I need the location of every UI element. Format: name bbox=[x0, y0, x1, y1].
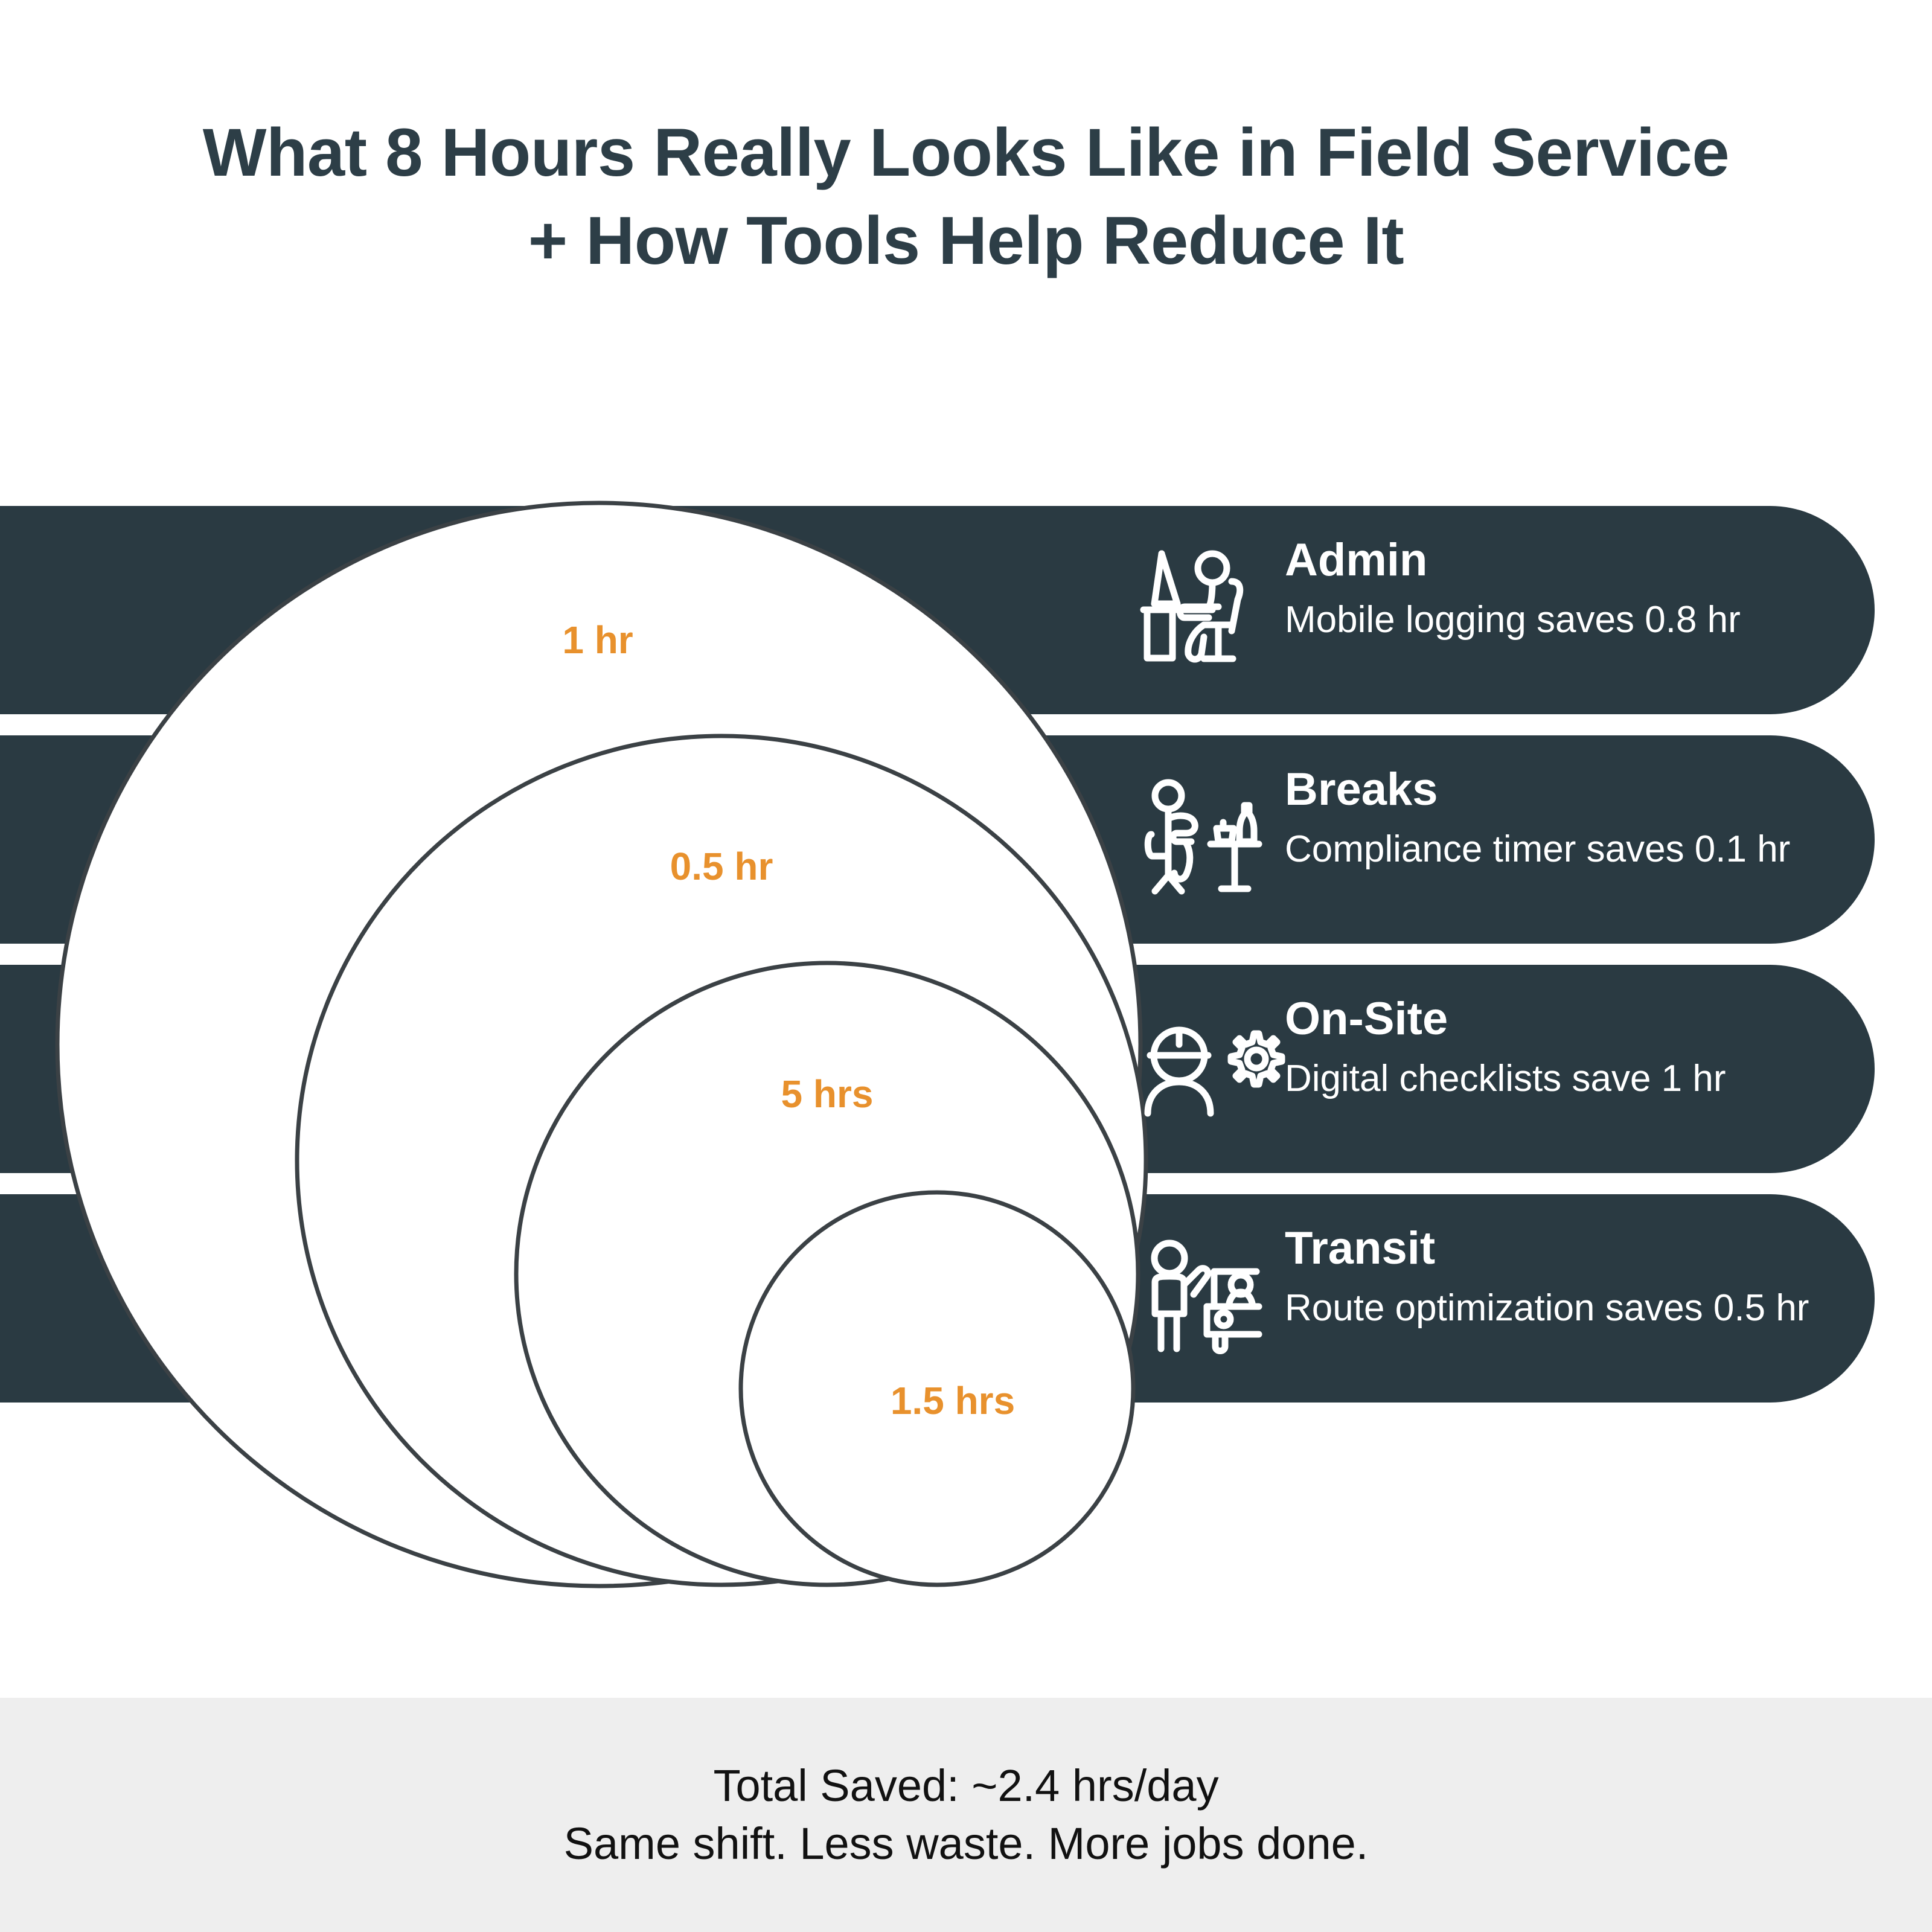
row-label-breaks: Breaks bbox=[1285, 767, 1790, 813]
footer-total-saved: Total Saved: ~2.4 hrs/day bbox=[713, 1757, 1218, 1815]
footer-summary: Total Saved: ~2.4 hrs/day Same shift. Le… bbox=[0, 1698, 1932, 1932]
footer-tagline: Same shift. Less waste. More jobs done. bbox=[564, 1815, 1369, 1873]
row-text-onsite: On-Site Digital checklists save 1 hr bbox=[1285, 996, 1726, 1098]
row-label-admin: Admin bbox=[1285, 537, 1741, 583]
row-sub-breaks: Compliance timer saves 0.1 hr bbox=[1285, 831, 1790, 868]
circle-value-transit: 1.5 hrs bbox=[891, 1378, 1015, 1423]
circle-value-admin: 1 hr bbox=[562, 618, 633, 662]
row-label-onsite: On-Site bbox=[1285, 996, 1726, 1042]
chart-stage: Admin Mobile logging saves 0.8 hr Breaks… bbox=[0, 0, 1932, 1698]
row-sub-onsite: Digital checklists save 1 hr bbox=[1285, 1060, 1726, 1098]
row-sub-admin: Mobile logging saves 0.8 hr bbox=[1285, 601, 1741, 639]
circle-value-onsite: 5 hrs bbox=[781, 1072, 874, 1116]
row-label-transit: Transit bbox=[1285, 1226, 1809, 1271]
row-text-admin: Admin Mobile logging saves 0.8 hr bbox=[1285, 537, 1741, 639]
row-sub-transit: Route optimization saves 0.5 hr bbox=[1285, 1290, 1809, 1327]
circle-group bbox=[57, 503, 1146, 1586]
circle-value-breaks: 0.5 hr bbox=[670, 844, 773, 889]
infographic-canvas: What 8 Hours Really Looks Like in Field … bbox=[0, 0, 1932, 1932]
row-text-transit: Transit Route optimization saves 0.5 hr bbox=[1285, 1226, 1809, 1327]
row-text-breaks: Breaks Compliance timer saves 0.1 hr bbox=[1285, 767, 1790, 868]
